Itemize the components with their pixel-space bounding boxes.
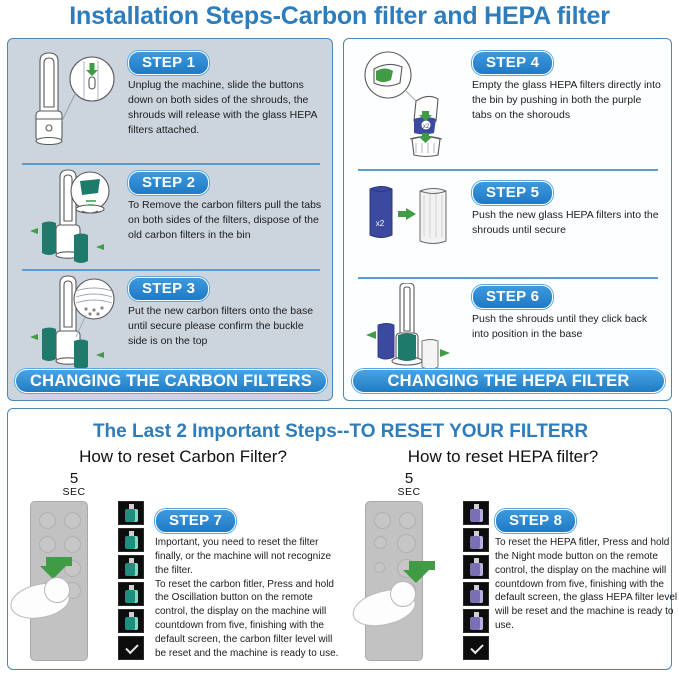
step-3-badge: STEP 3 (128, 277, 209, 301)
power-button-icon (374, 512, 391, 529)
step-6-badge: STEP 6 (472, 285, 553, 309)
mode-button-icon (39, 536, 56, 553)
screen-hepa-4 (463, 528, 489, 552)
step-3-body: Put the new carbon filters onto the base… (128, 304, 324, 349)
step-7-badge: STEP 7 (155, 509, 236, 533)
power-button-icon (39, 512, 56, 529)
step-5-text: STEP 5 Push the new glass HEPA filters i… (466, 179, 664, 238)
step-row-2: STEP 2 To Remove the carbon filters pull… (18, 169, 324, 269)
divider-4 (358, 169, 658, 171)
screen-carbon-1 (118, 609, 144, 633)
screen-carbon-done (118, 636, 144, 660)
step-4-body: Empty the glass HEPA filters directly in… (472, 78, 664, 123)
step-row-1: STEP 1 Unplug the machine, slide the but… (18, 49, 324, 153)
step-6-body: Push the shrouds until they click back i… (472, 312, 664, 342)
fan-speed-button-icon (397, 534, 416, 553)
step-2-body: To Remove the carbon filters pull the ta… (128, 198, 324, 243)
step-3-illustration (18, 275, 122, 375)
screen-carbon-2 (118, 582, 144, 606)
step-8-badge: STEP 8 (495, 509, 576, 533)
hepa-filter-panel: x2 STEP 4 Empty the glass HEPA filters d… (343, 38, 672, 401)
carbon-banner: CHANGING THE CARBON FILTERS (15, 369, 327, 393)
timer-seconds-hepa: 5 (379, 471, 439, 486)
page-title: Installation Steps-Carbon filter and HEP… (0, 2, 679, 31)
hepa-banner: CHANGING THE HEPA FILTER (352, 369, 665, 393)
step-row-6: STEP 6 Push the shrouds until they click… (354, 283, 664, 379)
reset-panel: The Last 2 Important Steps--TO RESET YOU… (7, 408, 672, 670)
reset-subtitle-carbon: How to reset Carbon Filter? (18, 447, 348, 467)
screen-hepa-3 (463, 555, 489, 579)
step-2-badge: STEP 2 (128, 171, 209, 195)
screen-hepa-done (463, 636, 489, 660)
fingertip-hepa-icon (390, 581, 416, 607)
fan-speed-button-icon (64, 536, 81, 553)
step-8-body: To reset the HEPA fitler, Press and hold… (495, 536, 679, 633)
step-row-3: STEP 3 Put the new carbon filters onto t… (18, 275, 324, 375)
step-7-text: STEP 7 Important, you need to reset the … (155, 509, 340, 660)
step-8-text: STEP 8 To reset the HEPA fitler, Press a… (495, 509, 679, 633)
fingertip-carbon-icon (44, 577, 70, 603)
screen-carbon-5 (118, 501, 144, 525)
screen-hepa-5 (463, 501, 489, 525)
timer-label-carbon: 5 SEC (44, 471, 104, 498)
step-4-badge: STEP 4 (472, 51, 553, 75)
step-row-5: x2 STEP 5 Push the new glass HEPA filter… (354, 179, 664, 265)
step-5-body: Push the new glass HEPA filters into the… (472, 208, 664, 238)
timer-unit-carbon: SEC (44, 487, 104, 498)
step-2-illustration (18, 169, 122, 269)
timer-unit-hepa: SEC (379, 487, 439, 498)
step-1-body: Unplug the machine, slide the buttons do… (128, 78, 324, 138)
step-3-text: STEP 3 Put the new carbon filters onto t… (122, 275, 324, 349)
step-7-body: Important, you need to reset the filter … (155, 536, 340, 660)
carbon-filter-panel: STEP 1 Unplug the machine, slide the but… (7, 38, 333, 401)
timer-button-icon (399, 512, 416, 529)
step-1-text: STEP 1 Unplug the machine, slide the but… (122, 49, 324, 138)
svg-text:x2: x2 (376, 219, 385, 228)
screen-hepa-1 (463, 609, 489, 633)
screen-carbon-3 (118, 555, 144, 579)
divider-5 (358, 277, 658, 279)
timer-button-icon (64, 512, 81, 529)
screen-carbon-4 (118, 528, 144, 552)
step-5-illustration: x2 (354, 179, 466, 265)
reset-subtitle-hepa: How to reset HEPA filter? (338, 447, 668, 467)
timer-label-hepa: 5 SEC (379, 471, 439, 498)
step-1-illustration (18, 49, 122, 153)
step-4-illustration: x2 (354, 49, 466, 159)
screen-hepa-2 (463, 582, 489, 606)
step-4-text: STEP 4 Empty the glass HEPA filters dire… (466, 49, 664, 123)
svg-text:x2: x2 (423, 124, 430, 130)
divider-2 (22, 269, 320, 271)
step-6-text: STEP 6 Push the shrouds until they click… (466, 283, 664, 342)
mode-button-icon (374, 536, 387, 549)
display-screens-carbon (118, 501, 144, 663)
step-5-badge: STEP 5 (472, 181, 553, 205)
divider-1 (22, 163, 320, 165)
timer-seconds-carbon: 5 (44, 471, 104, 486)
display-screens-hepa (463, 501, 489, 663)
step-6-illustration (354, 283, 466, 379)
step-2-text: STEP 2 To Remove the carbon filters pull… (122, 169, 324, 243)
oscillation-button-icon (374, 562, 385, 573)
infographic-root: Installation Steps-Carbon filter and HEP… (0, 0, 679, 675)
step-1-badge: STEP 1 (128, 51, 209, 75)
reset-panel-title: The Last 2 Important Steps--TO RESET YOU… (8, 421, 673, 443)
step-row-4: x2 STEP 4 Empty the glass HEPA filters d… (354, 49, 664, 159)
